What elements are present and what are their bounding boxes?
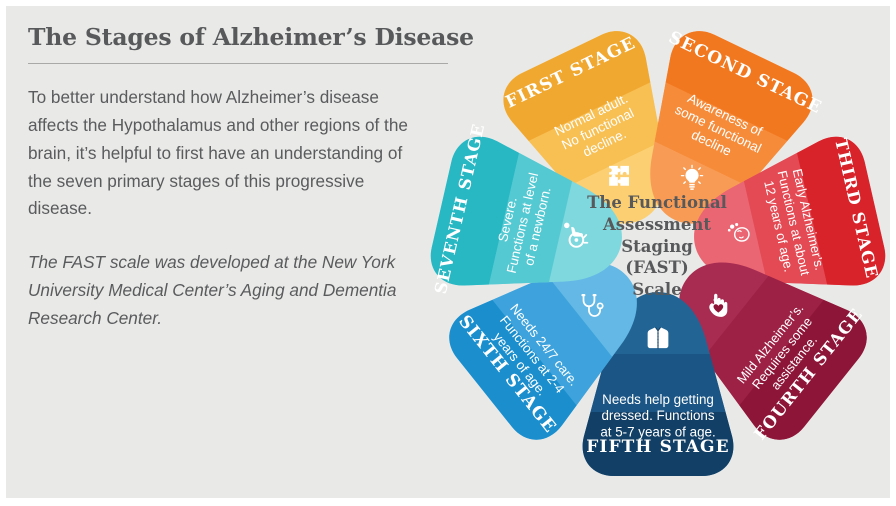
fast-scale-note: The FAST scale was developed at the New …: [28, 249, 426, 333]
intro-paragraph: To better understand how Alzheimer’s dis…: [28, 84, 420, 223]
intro-column: The Stages of Alzheimer’s Disease To bet…: [24, 24, 428, 333]
stage-desc-line: dressed. Functions: [601, 408, 714, 423]
stage-title-fifth: FIFTH STAGE: [586, 437, 730, 457]
infographic-canvas: The Stages of Alzheimer’s Disease To bet…: [0, 0, 896, 504]
page-title: The Stages of Alzheimer’s Disease: [28, 24, 428, 51]
fast-scale-wheel: FIRST STAGENormal adult.No functionaldec…: [410, 2, 896, 506]
shirt-icon: [648, 327, 669, 348]
stage-desc-line: at 5-7 years of age.: [600, 424, 715, 439]
icon-wrap-fifth: [648, 327, 669, 348]
wheel-svg: FIRST STAGENormal adult.No functionaldec…: [410, 2, 896, 506]
petal-text: FIFTH STAGENeeds help gettingdressed. Fu…: [586, 392, 730, 457]
stage-desc-line: Needs help getting: [602, 392, 714, 407]
title-divider: [28, 63, 448, 64]
petal-collection: FIRST STAGENormal adult.No functionaldec…: [422, 18, 891, 476]
